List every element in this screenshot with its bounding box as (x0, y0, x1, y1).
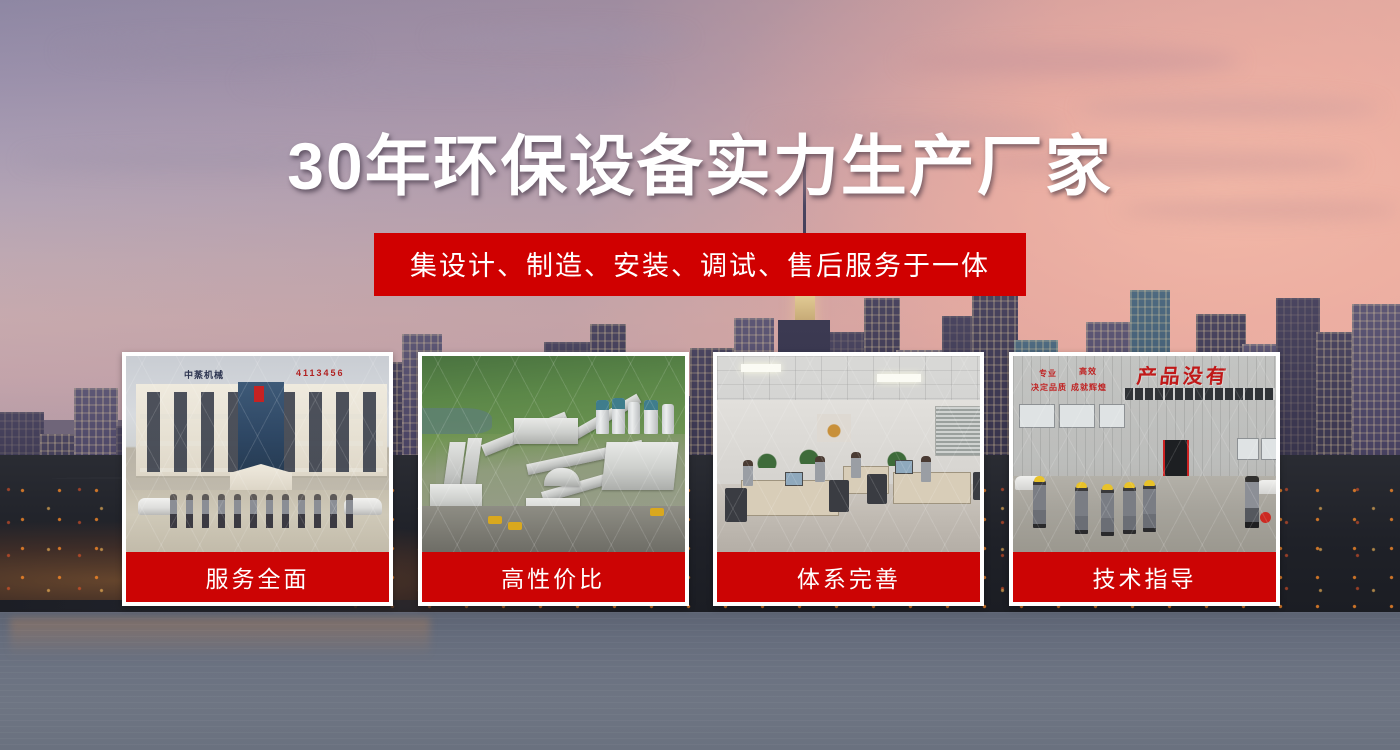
card-label: 体系完善 (717, 552, 980, 602)
hero-banner: 30年环保设备实力生产厂家 集设计、制造、安装、调试、售后服务于一体 中蒸机械 … (0, 0, 1400, 750)
feature-card[interactable]: 中蒸机械 4113456 服务全面 (122, 352, 393, 606)
factory-slogan-1: 专业 (1039, 368, 1057, 379)
feature-card[interactable]: 体系完善 (713, 352, 984, 606)
page-title: 30年环保设备实力生产厂家 (0, 131, 1400, 202)
factory-slogan-3: 决定品质 (1031, 382, 1067, 393)
card-label: 高性价比 (422, 552, 685, 602)
feature-card[interactable]: 产品没有 专业 高效 决定品质 成就辉煌 (1009, 352, 1280, 606)
subtitle-banner: 集设计、制造、安装、调试、售后服务于一体 (374, 233, 1026, 296)
factory-slogan-main: 产品没有 (1135, 360, 1230, 389)
cloud (240, 70, 660, 92)
card-photo-office-interior (717, 356, 980, 552)
building-sign-text: 中蒸机械 (184, 368, 224, 381)
cloud (60, 38, 360, 64)
card-photo-factory-workers: 产品没有 专业 高效 决定品质 成就辉煌 (1013, 356, 1276, 552)
card-label: 服务全面 (126, 552, 389, 602)
cloud (1120, 200, 1400, 220)
cloud (1080, 96, 1380, 120)
building-phone-text: 4113456 (296, 368, 345, 378)
card-photo-headquarters: 中蒸机械 4113456 (126, 356, 389, 552)
feature-card-row: 中蒸机械 4113456 服务全面 (122, 352, 1280, 606)
river-light-reflection (10, 618, 430, 658)
factory-slogan-4: 成就辉煌 (1071, 382, 1107, 393)
card-label: 技术指导 (1013, 552, 1276, 602)
cloud (900, 46, 1240, 76)
subtitle-banner-wrap: 集设计、制造、安装、调试、售后服务于一体 (0, 233, 1400, 296)
factory-slogan-2: 高效 (1079, 366, 1097, 377)
cloud (430, 28, 690, 48)
feature-card[interactable]: 高性价比 (418, 352, 689, 606)
card-photo-industrial-plant (422, 356, 685, 552)
